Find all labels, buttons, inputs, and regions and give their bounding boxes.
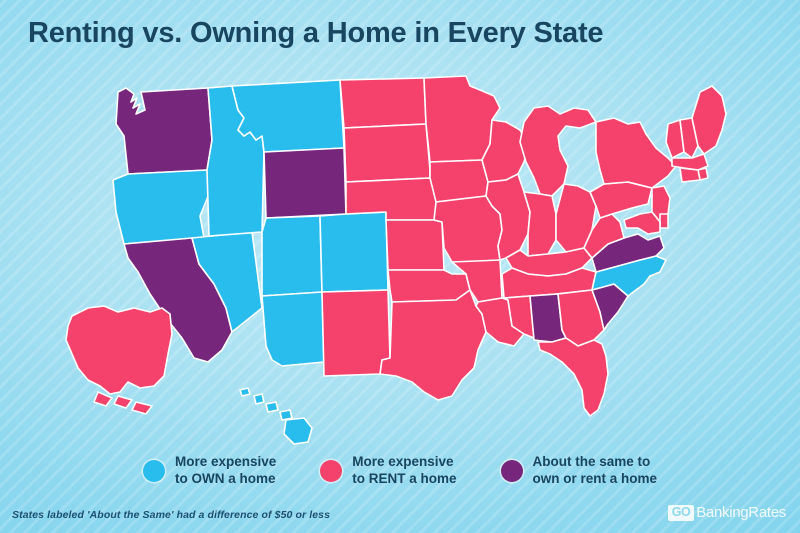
state-AZ[interactable] — [262, 292, 324, 366]
state-KS[interactable] — [386, 220, 444, 270]
state-DE[interactable] — [660, 214, 668, 228]
state-ME[interactable] — [692, 86, 726, 154]
logo-mark: GO — [668, 505, 694, 521]
legend-item-same[interactable]: About the same to own or rent a home — [501, 454, 658, 487]
state-FL[interactable] — [538, 338, 608, 416]
state-MD[interactable] — [624, 212, 660, 234]
us-choropleth-map — [0, 62, 800, 447]
state-OK[interactable] — [388, 270, 470, 302]
footnote: States labeled 'About the Same' had a di… — [12, 509, 330, 521]
state-CT[interactable] — [680, 168, 700, 182]
state-NY[interactable] — [596, 118, 676, 188]
title-bar: Renting vs. Owning a Home in Every State — [0, 0, 800, 66]
state-PA[interactable] — [590, 182, 652, 218]
legend-label-rent: More expensive to RENT a home — [352, 454, 456, 487]
map-svg — [0, 62, 800, 447]
state-TX[interactable] — [380, 290, 486, 400]
state-IN[interactable] — [524, 192, 556, 256]
legend-label-same: About the same to own or rent a home — [533, 454, 658, 487]
logo-wordmark: BankingRates — [696, 505, 786, 521]
legend-swatch-own-icon — [143, 460, 165, 482]
state-OR[interactable] — [113, 170, 209, 244]
legend-swatch-same-icon — [501, 460, 523, 482]
state-WY[interactable] — [264, 148, 346, 218]
page-title: Renting vs. Owning a Home in Every State — [28, 17, 603, 50]
brand-logo[interactable]: GO BankingRates — [668, 505, 786, 521]
state-UT[interactable] — [262, 216, 322, 296]
state-WA[interactable] — [116, 88, 212, 174]
state-IA[interactable] — [430, 160, 488, 202]
state-CO[interactable] — [320, 212, 388, 292]
state-NM[interactable] — [322, 290, 390, 376]
legend-item-rent[interactable]: More expensive to RENT a home — [320, 454, 456, 487]
legend-item-own[interactable]: More expensive to OWN a home — [143, 454, 276, 487]
state-AK[interactable] — [66, 306, 172, 414]
state-HI[interactable] — [240, 388, 312, 444]
state-NE[interactable] — [346, 178, 438, 220]
state-ND[interactable] — [340, 78, 426, 128]
state-MI[interactable] — [520, 106, 596, 196]
legend-label-own: More expensive to OWN a home — [175, 454, 276, 487]
legend: More expensive to OWN a home More expens… — [0, 443, 800, 498]
legend-swatch-rent-icon — [320, 460, 342, 482]
state-SD[interactable] — [344, 124, 430, 182]
